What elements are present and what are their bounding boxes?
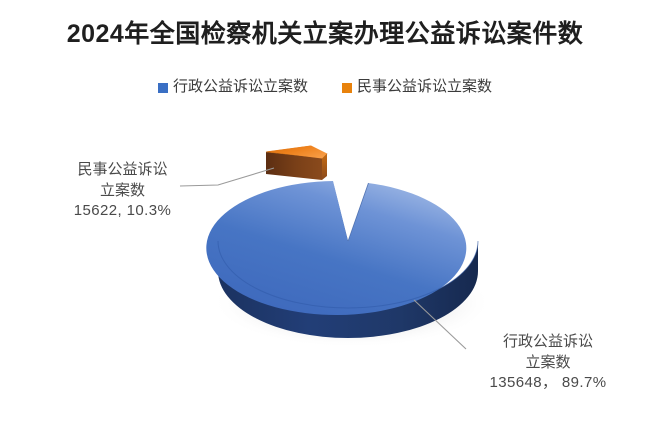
- callout-civil-value: 15622, 10.3%: [40, 201, 205, 222]
- pie-slice-administrative-top: [206, 181, 466, 315]
- chart-canvas: 2024年全国检察机关立案办理公益诉讼案件数 行政公益诉讼立案数 民事公益诉讼立…: [0, 0, 650, 424]
- callout-administrative-line2: 立案数: [450, 353, 646, 374]
- pie-slice-civil-side-right: [322, 154, 327, 180]
- callout-administrative: 行政公益诉讼 立案数 135648， 89.7%: [450, 332, 646, 394]
- callout-civil-line2: 立案数: [40, 181, 205, 202]
- callout-civil-line1: 民事公益诉讼: [40, 160, 205, 181]
- callout-administrative-line1: 行政公益诉讼: [450, 332, 646, 353]
- callout-civil: 民事公益诉讼 立案数 15622, 10.3%: [40, 160, 205, 222]
- callout-administrative-value: 135648， 89.7%: [450, 373, 646, 394]
- pie-slice-civil[interactable]: [266, 146, 327, 181]
